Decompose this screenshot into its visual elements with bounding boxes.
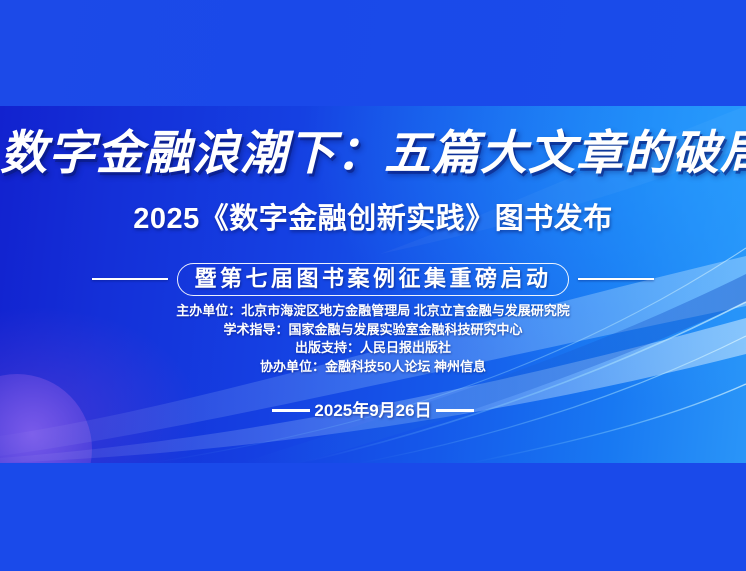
poster-subtitle: 2025《数字金融创新实践》图书发布	[0, 205, 746, 234]
top-background-fill	[0, 0, 746, 106]
poster-screenshot: 数字金融浪潮下：五篇大文章的破局与重构 2025《数字金融创新实践》图书发布 暨…	[0, 0, 746, 571]
bottom-background-fill	[0, 463, 746, 571]
date-row: 2025年9月26日	[0, 402, 746, 419]
organization-line: 出版支持：人民日报出版社	[0, 339, 746, 358]
banner-highlight-text: 暨第七届图书案例征集重磅启动	[177, 263, 568, 296]
page-title: 数字金融浪潮下：五篇大文章的破局与重构	[0, 130, 746, 177]
event-poster: 数字金融浪潮下：五篇大文章的破局与重构 2025《数字金融创新实践》图书发布 暨…	[0, 106, 746, 463]
date-rule-right	[436, 409, 474, 412]
date-rule-left	[272, 409, 310, 412]
organization-line: 学术指导：国家金融与发展实验室金融科技研究中心	[0, 321, 746, 340]
organization-list: 主办单位：北京市海淀区地方金融管理局 北京立言金融与发展研究院 学术指导：国家金…	[0, 302, 746, 376]
event-date: 2025年9月26日	[312, 402, 433, 419]
organization-line: 协办单位：金融科技50人论坛 神州信息	[0, 358, 746, 377]
banner-row: 暨第七届图书案例征集重磅启动	[0, 262, 746, 296]
banner-rule-right	[578, 278, 654, 280]
organization-line: 主办单位：北京市海淀区地方金融管理局 北京立言金融与发展研究院	[0, 302, 746, 321]
banner-rule-left	[92, 278, 168, 280]
